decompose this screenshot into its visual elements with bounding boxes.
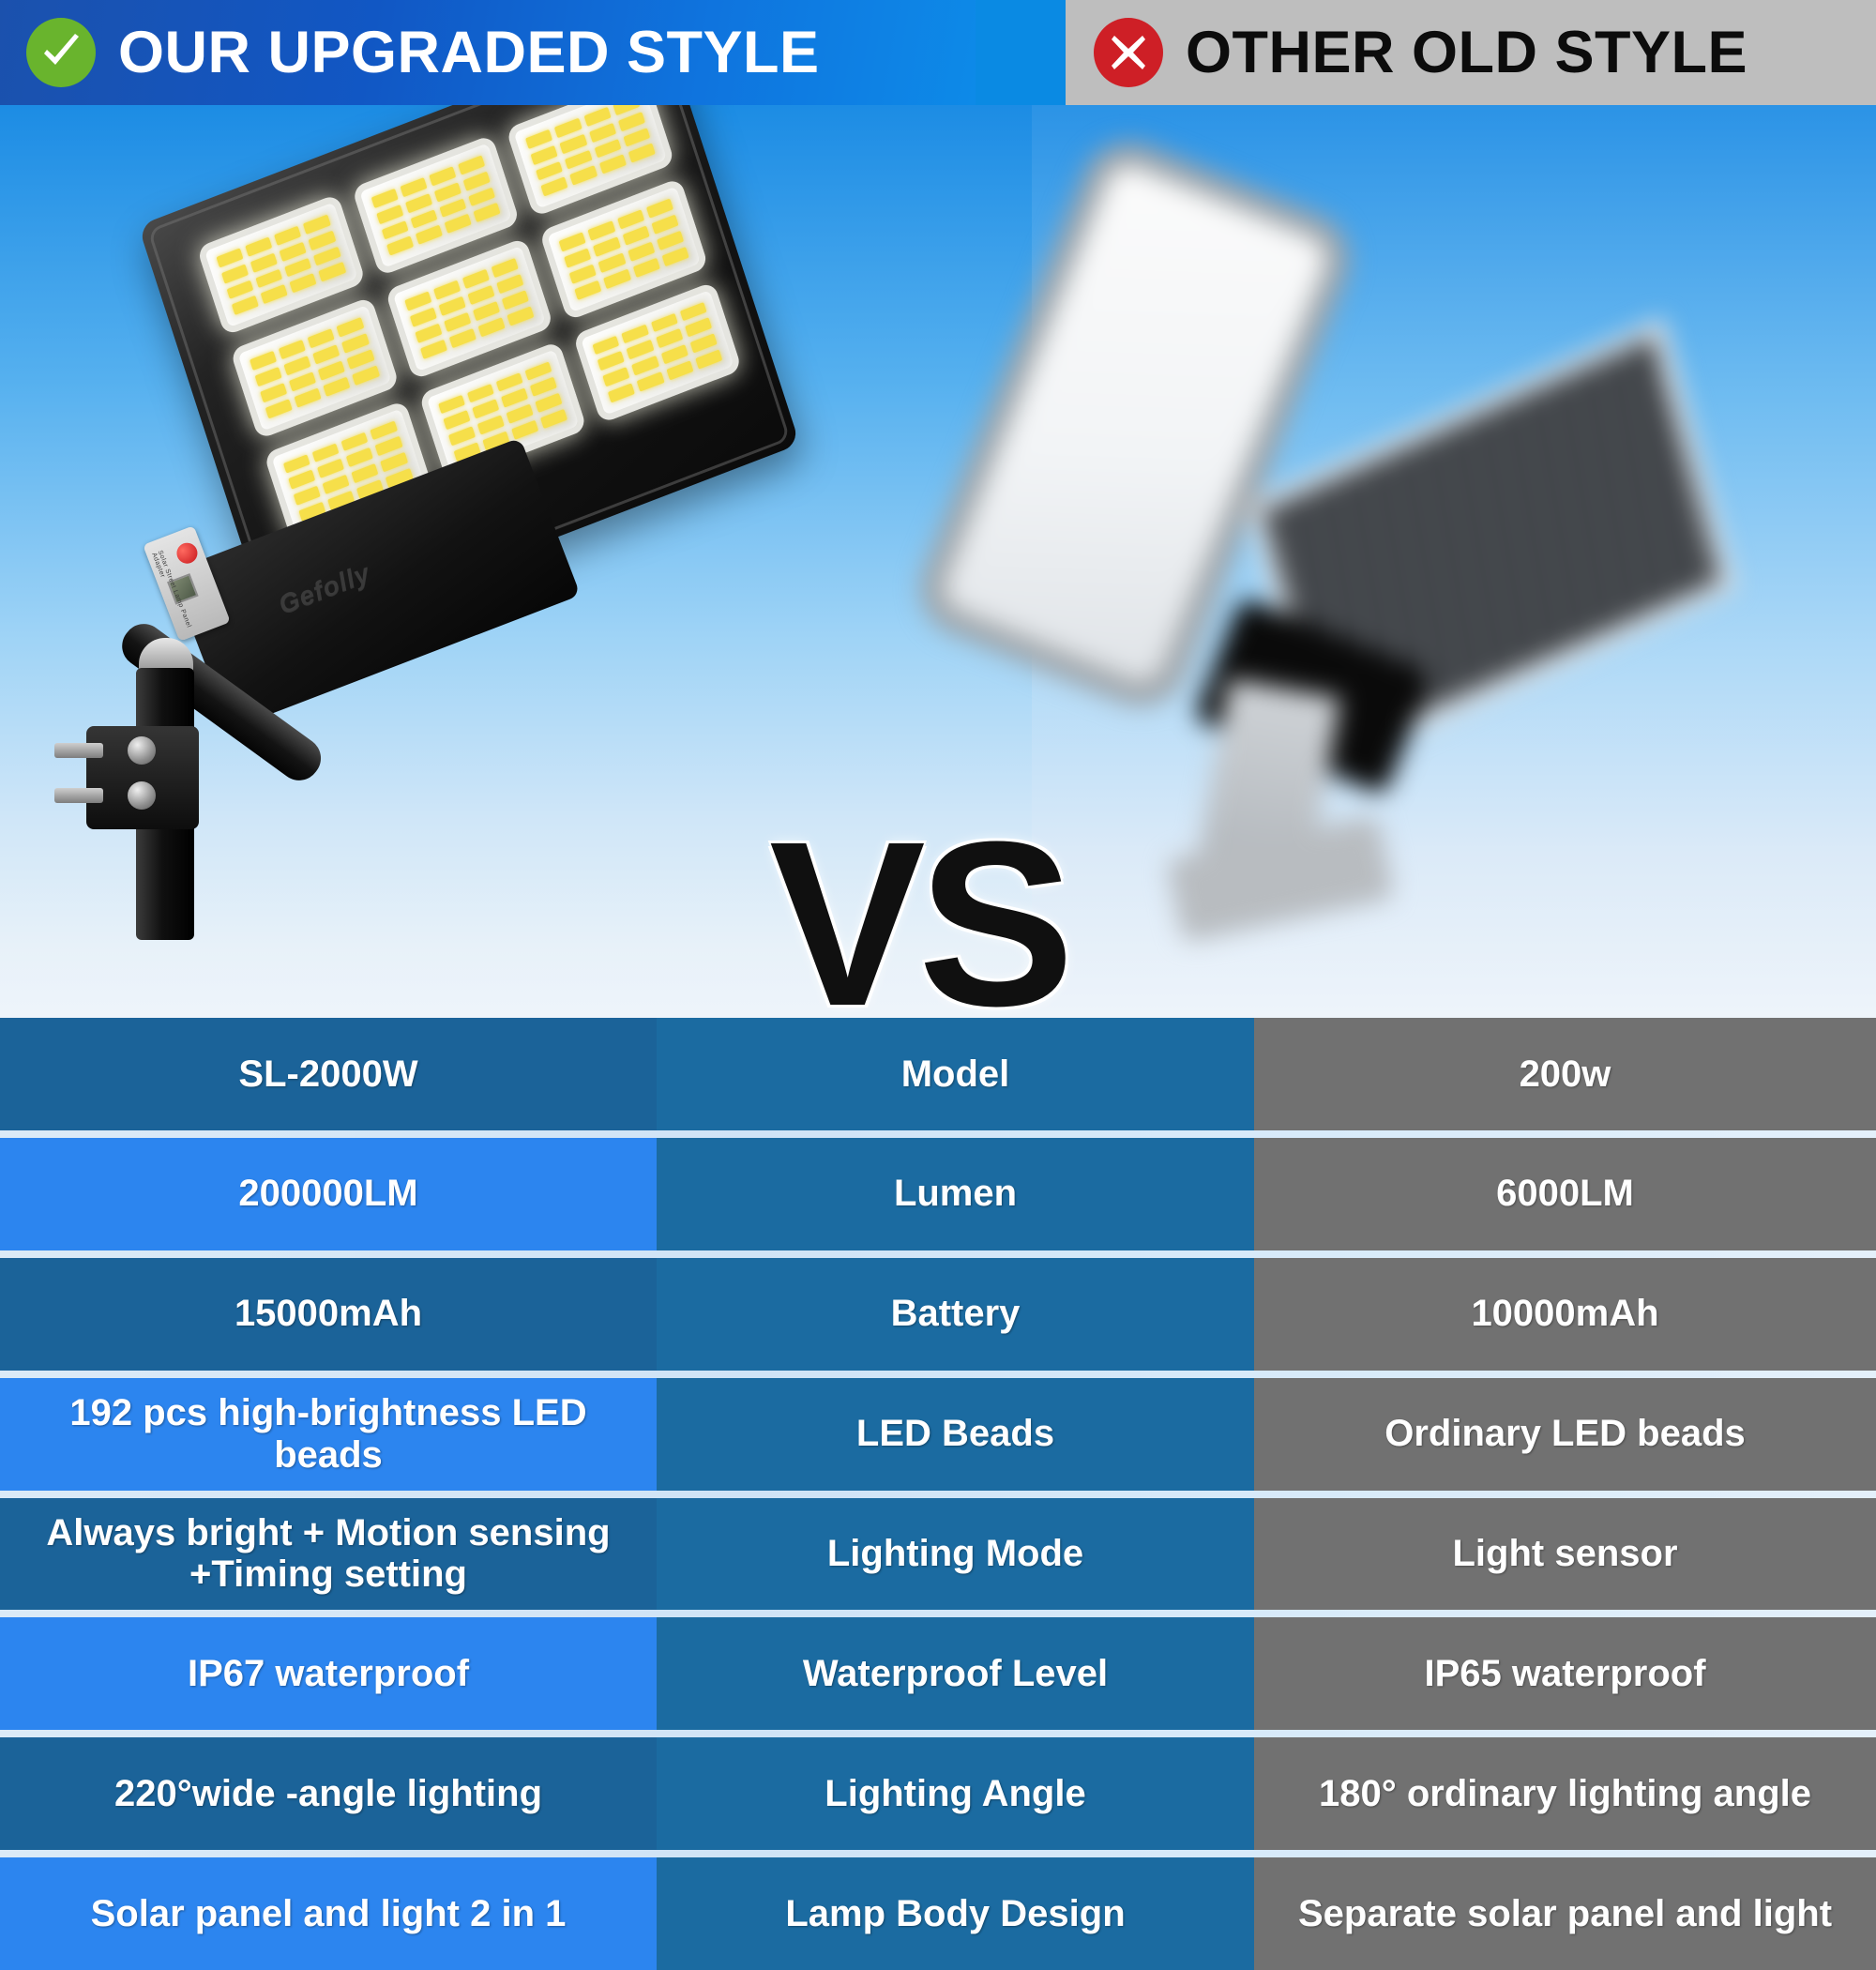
cell-ours: 220°wide -angle lighting (0, 1737, 657, 1850)
check-circle-icon (26, 18, 96, 87)
row-separator (0, 1371, 1876, 1378)
header-bar: OUR UPGRADED STYLE OTHER OLD STYLE (0, 0, 1876, 105)
row-separator (0, 1250, 1876, 1258)
power-indicator-icon (174, 539, 200, 566)
cell-ours: 15000mAh (0, 1258, 657, 1371)
table-row: Always bright + Motion sensing +Timing s… (0, 1498, 1876, 1611)
table-row: 192 pcs high-brightness LED beads LED Be… (0, 1378, 1876, 1491)
row-separator (0, 1850, 1876, 1857)
row-separator (0, 1730, 1876, 1737)
table-row: SL-2000W Model 200w (0, 1018, 1876, 1130)
upgraded-lamp-product-image: Solar Street Lamp Panel Adapter Gefolly (38, 105, 807, 931)
old-style-lamp-image (1032, 124, 1876, 893)
vs-label: VS (769, 818, 1067, 1018)
table-row: 200000LM Lumen 6000LM (0, 1138, 1876, 1250)
cell-ours: 200000LM (0, 1138, 657, 1250)
mounting-bracket (86, 726, 199, 829)
table-row: IP67 waterproof Waterproof Level IP65 wa… (0, 1617, 1876, 1730)
table-row: 220°wide -angle lighting Lighting Angle … (0, 1737, 1876, 1850)
cell-spec-label: Lighting Angle (657, 1737, 1254, 1850)
cell-other: 200w (1254, 1018, 1876, 1130)
cell-spec-label: Waterproof Level (657, 1617, 1254, 1730)
cell-spec-label: Lumen (657, 1138, 1254, 1250)
table-row: Solar panel and light 2 in 1 Lamp Body D… (0, 1857, 1876, 1970)
header-other-title: OTHER OLD STYLE (1186, 23, 1747, 83)
cell-ours: SL-2000W (0, 1018, 657, 1130)
cell-ours: Always bright + Motion sensing +Timing s… (0, 1498, 657, 1611)
row-separator (0, 1491, 1876, 1498)
table-row: 15000mAh Battery 10000mAh (0, 1258, 1876, 1371)
header-ours: OUR UPGRADED STYLE (0, 0, 976, 105)
cell-spec-label: Lamp Body Design (657, 1857, 1254, 1970)
cell-ours: IP67 waterproof (0, 1617, 657, 1730)
bracket-bolt (54, 743, 103, 758)
cell-spec-label: LED Beads (657, 1378, 1254, 1491)
cell-spec-label: Model (657, 1018, 1254, 1130)
row-separator (0, 1130, 1876, 1138)
x-circle-icon (1094, 18, 1163, 87)
cell-other: Ordinary LED beads (1254, 1378, 1876, 1491)
cell-other: 180° ordinary lighting angle (1254, 1737, 1876, 1850)
comparison-table: SL-2000W Model 200w 200000LM Lumen 6000L… (0, 1018, 1876, 1970)
cell-other: IP65 waterproof (1254, 1617, 1876, 1730)
cell-other: Light sensor (1254, 1498, 1876, 1611)
cell-spec-label: Lighting Mode (657, 1498, 1254, 1611)
cell-other: Separate solar panel and light (1254, 1857, 1876, 1970)
header-other: OTHER OLD STYLE (1066, 0, 1876, 105)
bracket-bolt-head (128, 736, 156, 765)
row-separator (0, 1610, 1876, 1617)
cell-ours: 192 pcs high-brightness LED beads (0, 1378, 657, 1491)
cell-other: 6000LM (1254, 1138, 1876, 1250)
comparison-infographic: OUR UPGRADED STYLE OTHER OLD STYLE (0, 0, 1876, 1970)
header-divider (976, 0, 1066, 105)
cell-spec-label: Battery (657, 1258, 1254, 1371)
cell-ours: Solar panel and light 2 in 1 (0, 1857, 657, 1970)
cell-other: 10000mAh (1254, 1258, 1876, 1371)
bracket-bolt-head (128, 781, 156, 810)
bracket-bolt (54, 788, 103, 803)
header-ours-title: OUR UPGRADED STYLE (118, 23, 820, 83)
hero-image-band: Solar Street Lamp Panel Adapter Gefolly … (0, 105, 1876, 1018)
